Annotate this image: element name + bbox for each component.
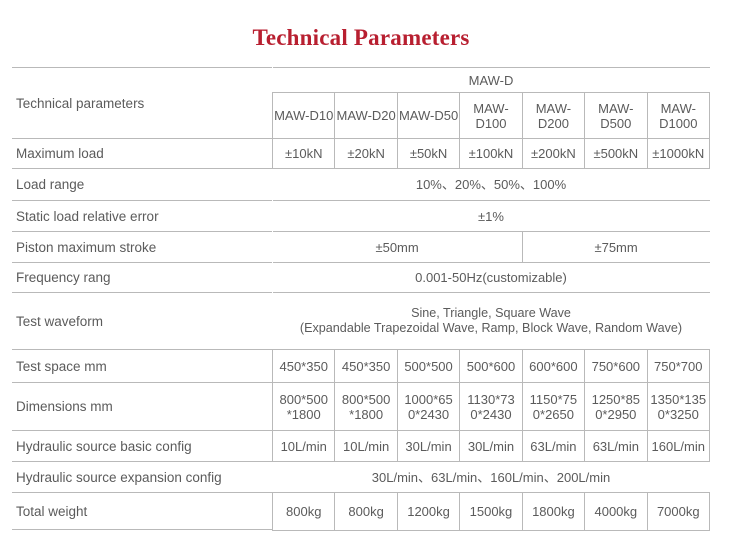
parameter-label-text: Hydraulic source expansion config bbox=[16, 470, 222, 485]
parameter-label: Total weight bbox=[12, 492, 272, 530]
table-row: 10%、20%、50%、100% bbox=[273, 169, 710, 201]
parameter-label: Test space mm bbox=[12, 349, 272, 382]
spec-value-cell: 4000kg bbox=[585, 493, 647, 531]
spec-value-cell: ±100kN bbox=[460, 139, 522, 169]
spec-value-line: 1350*135 bbox=[649, 392, 708, 407]
parameter-label-text: Test waveform bbox=[16, 314, 103, 329]
parameter-label-text: Frequency rang bbox=[16, 270, 111, 285]
spec-value-cell: 63L/min bbox=[585, 431, 647, 462]
spec-value-cell: 30L/min bbox=[460, 431, 522, 462]
table-row: 800kg800kg1200kg1500kg1800kg4000kg7000kg bbox=[273, 493, 710, 531]
table-row: 0.001-50Hz(customizable) bbox=[273, 263, 710, 293]
specifications-table: MAW-DMAW-D10MAW-D20MAW-D50MAW-D100MAW-D2… bbox=[272, 67, 710, 531]
spec-value-cell: 800kg bbox=[273, 493, 335, 531]
technical-parameters-page: Technical Parameters Technical parameter… bbox=[0, 0, 750, 554]
parameter-label-text: Total weight bbox=[16, 504, 87, 519]
spec-value-cell: 1250*850*2950 bbox=[585, 383, 647, 431]
parameter-label-text: Piston maximum stroke bbox=[16, 240, 156, 255]
model-header-row: MAW-D10MAW-D20MAW-D50MAW-D100MAW-D200MAW… bbox=[273, 93, 710, 139]
table-row: ±50mm±75mm bbox=[273, 232, 710, 263]
spec-value-cell: 1350*1350*3250 bbox=[647, 383, 709, 431]
spec-value-cell-span: 10%、20%、50%、100% bbox=[273, 169, 710, 201]
model-header-cell: MAW-D50 bbox=[397, 93, 459, 139]
spec-value-cell-span: ±1% bbox=[273, 201, 710, 232]
spec-value-cell: 1200kg bbox=[397, 493, 459, 531]
spec-value-line: 1250*85 bbox=[586, 392, 645, 407]
parameter-label-column: Technical parametersMaximum loadLoad ran… bbox=[0, 67, 272, 530]
spec-value-line: 1150*75 bbox=[524, 392, 583, 407]
label-column-header: Technical parameters bbox=[12, 67, 272, 138]
model-header-cell: MAW-D200 bbox=[522, 93, 584, 139]
parameter-label-text: Static load relative error bbox=[16, 209, 159, 224]
series-name-cell: MAW-D bbox=[273, 68, 710, 93]
spec-value-cell: 750*600 bbox=[585, 350, 647, 383]
model-header-cell: MAW-D1000 bbox=[647, 93, 709, 139]
spec-value-cell: ±200kN bbox=[522, 139, 584, 169]
spec-value-cell: 800kg bbox=[335, 493, 397, 531]
parameter-label: Frequency rang bbox=[12, 262, 272, 292]
spec-value-cell: 160L/min bbox=[647, 431, 709, 462]
spec-value-line: 0*3250 bbox=[649, 407, 708, 422]
spec-value-cell: 1000*650*2430 bbox=[397, 383, 459, 431]
spec-value-cell: 63L/min bbox=[522, 431, 584, 462]
parameter-label-text: Load range bbox=[16, 177, 84, 192]
spec-value-cell-left: ±50mm bbox=[273, 232, 523, 263]
table-row: ±10kN±20kN±50kN±100kN±200kN±500kN±1000kN bbox=[273, 139, 710, 169]
spec-value-cell: 450*350 bbox=[335, 350, 397, 383]
spec-value-cell: 1800kg bbox=[522, 493, 584, 531]
spec-value-cell: 800*500*1800 bbox=[273, 383, 335, 431]
table-row: 10L/min10L/min30L/min30L/min63L/min63L/m… bbox=[273, 431, 710, 462]
spec-value-line: 800*500 bbox=[274, 392, 333, 407]
spec-value-cell: 800*500*1800 bbox=[335, 383, 397, 431]
spec-value-cell: ±50kN bbox=[397, 139, 459, 169]
parameter-label: Hydraulic source expansion config bbox=[12, 461, 272, 492]
parameter-label-text: Maximum load bbox=[16, 146, 104, 161]
parameter-label: Test waveform bbox=[12, 292, 272, 349]
spec-value-cell: 10L/min bbox=[273, 431, 335, 462]
spec-value-line: *1800 bbox=[274, 407, 333, 422]
spec-value-line: 0*2650 bbox=[524, 407, 583, 422]
spec-value-cell: 1150*750*2650 bbox=[522, 383, 584, 431]
spec-value-cell-span: 0.001-50Hz(customizable) bbox=[273, 263, 710, 293]
spec-value-cell: 7000kg bbox=[647, 493, 709, 531]
table-row: Sine, Triangle, Square Wave(Expandable T… bbox=[273, 293, 710, 350]
label-column-header-text: Technical parameters bbox=[16, 96, 144, 111]
parameter-label-text: Dimensions mm bbox=[16, 399, 113, 414]
spec-value-cell: ±10kN bbox=[273, 139, 335, 169]
spec-value-cell: 750*700 bbox=[647, 350, 709, 383]
spec-value-cell: 450*350 bbox=[273, 350, 335, 383]
parameters-content: Technical parametersMaximum loadLoad ran… bbox=[0, 67, 750, 531]
spec-value-line: Sine, Triangle, Square Wave bbox=[274, 306, 709, 321]
spec-value-cell: 600*600 bbox=[522, 350, 584, 383]
table-row: ±1% bbox=[273, 201, 710, 232]
specifications-table-body: MAW-DMAW-D10MAW-D20MAW-D50MAW-D100MAW-D2… bbox=[273, 68, 710, 531]
spec-value-cell: 500*500 bbox=[397, 350, 459, 383]
spec-value-cell: ±1000kN bbox=[647, 139, 709, 169]
spec-value-cell-span: 30L/min、63L/min、160L/min、200L/min bbox=[273, 462, 710, 493]
parameter-label-text: Hydraulic source basic config bbox=[16, 439, 192, 454]
spec-value-line: 0*2430 bbox=[399, 407, 458, 422]
parameter-label: Static load relative error bbox=[12, 200, 272, 231]
series-header-row: MAW-D bbox=[273, 68, 710, 93]
spec-value-line: 0*2950 bbox=[586, 407, 645, 422]
model-header-cell: MAW-D20 bbox=[335, 93, 397, 139]
model-header-cell: MAW-D100 bbox=[460, 93, 522, 139]
spec-value-cell: ±20kN bbox=[335, 139, 397, 169]
model-header-cell: MAW-D10 bbox=[273, 93, 335, 139]
parameter-label: Piston maximum stroke bbox=[12, 231, 272, 262]
spec-value-line: *1800 bbox=[336, 407, 395, 422]
table-row: 30L/min、63L/min、160L/min、200L/min bbox=[273, 462, 710, 493]
parameter-data-column: MAW-DMAW-D10MAW-D20MAW-D50MAW-D100MAW-D2… bbox=[272, 67, 722, 531]
spec-value-line: (Expandable Trapezoidal Wave, Ramp, Bloc… bbox=[274, 321, 709, 336]
spec-value-cell: 1130*730*2430 bbox=[460, 383, 522, 431]
spec-value-cell: ±500kN bbox=[585, 139, 647, 169]
spec-value-cell: 500*600 bbox=[460, 350, 522, 383]
spec-value-cell-right: ±75mm bbox=[522, 232, 709, 263]
model-header-cell: MAW-D500 bbox=[585, 93, 647, 139]
parameter-label: Maximum load bbox=[12, 138, 272, 168]
spec-value-cell: 10L/min bbox=[335, 431, 397, 462]
parameter-label-text: Test space mm bbox=[16, 359, 107, 374]
parameter-label: Dimensions mm bbox=[12, 382, 272, 430]
spec-value-cell: 1500kg bbox=[460, 493, 522, 531]
spec-value-line: 1130*73 bbox=[461, 392, 520, 407]
table-row: 450*350450*350500*500500*600600*600750*6… bbox=[273, 350, 710, 383]
spec-value-line: 800*500 bbox=[336, 392, 395, 407]
spec-value-cell: 30L/min bbox=[397, 431, 459, 462]
spec-value-cell-span: Sine, Triangle, Square Wave(Expandable T… bbox=[273, 293, 710, 350]
parameter-label: Load range bbox=[12, 168, 272, 200]
spec-value-line: 0*2430 bbox=[461, 407, 520, 422]
page-title: Technical Parameters bbox=[0, 0, 722, 52]
parameter-label: Hydraulic source basic config bbox=[12, 430, 272, 461]
table-row: 800*500*1800800*500*18001000*650*2430113… bbox=[273, 383, 710, 431]
spec-value-line: 1000*65 bbox=[399, 392, 458, 407]
